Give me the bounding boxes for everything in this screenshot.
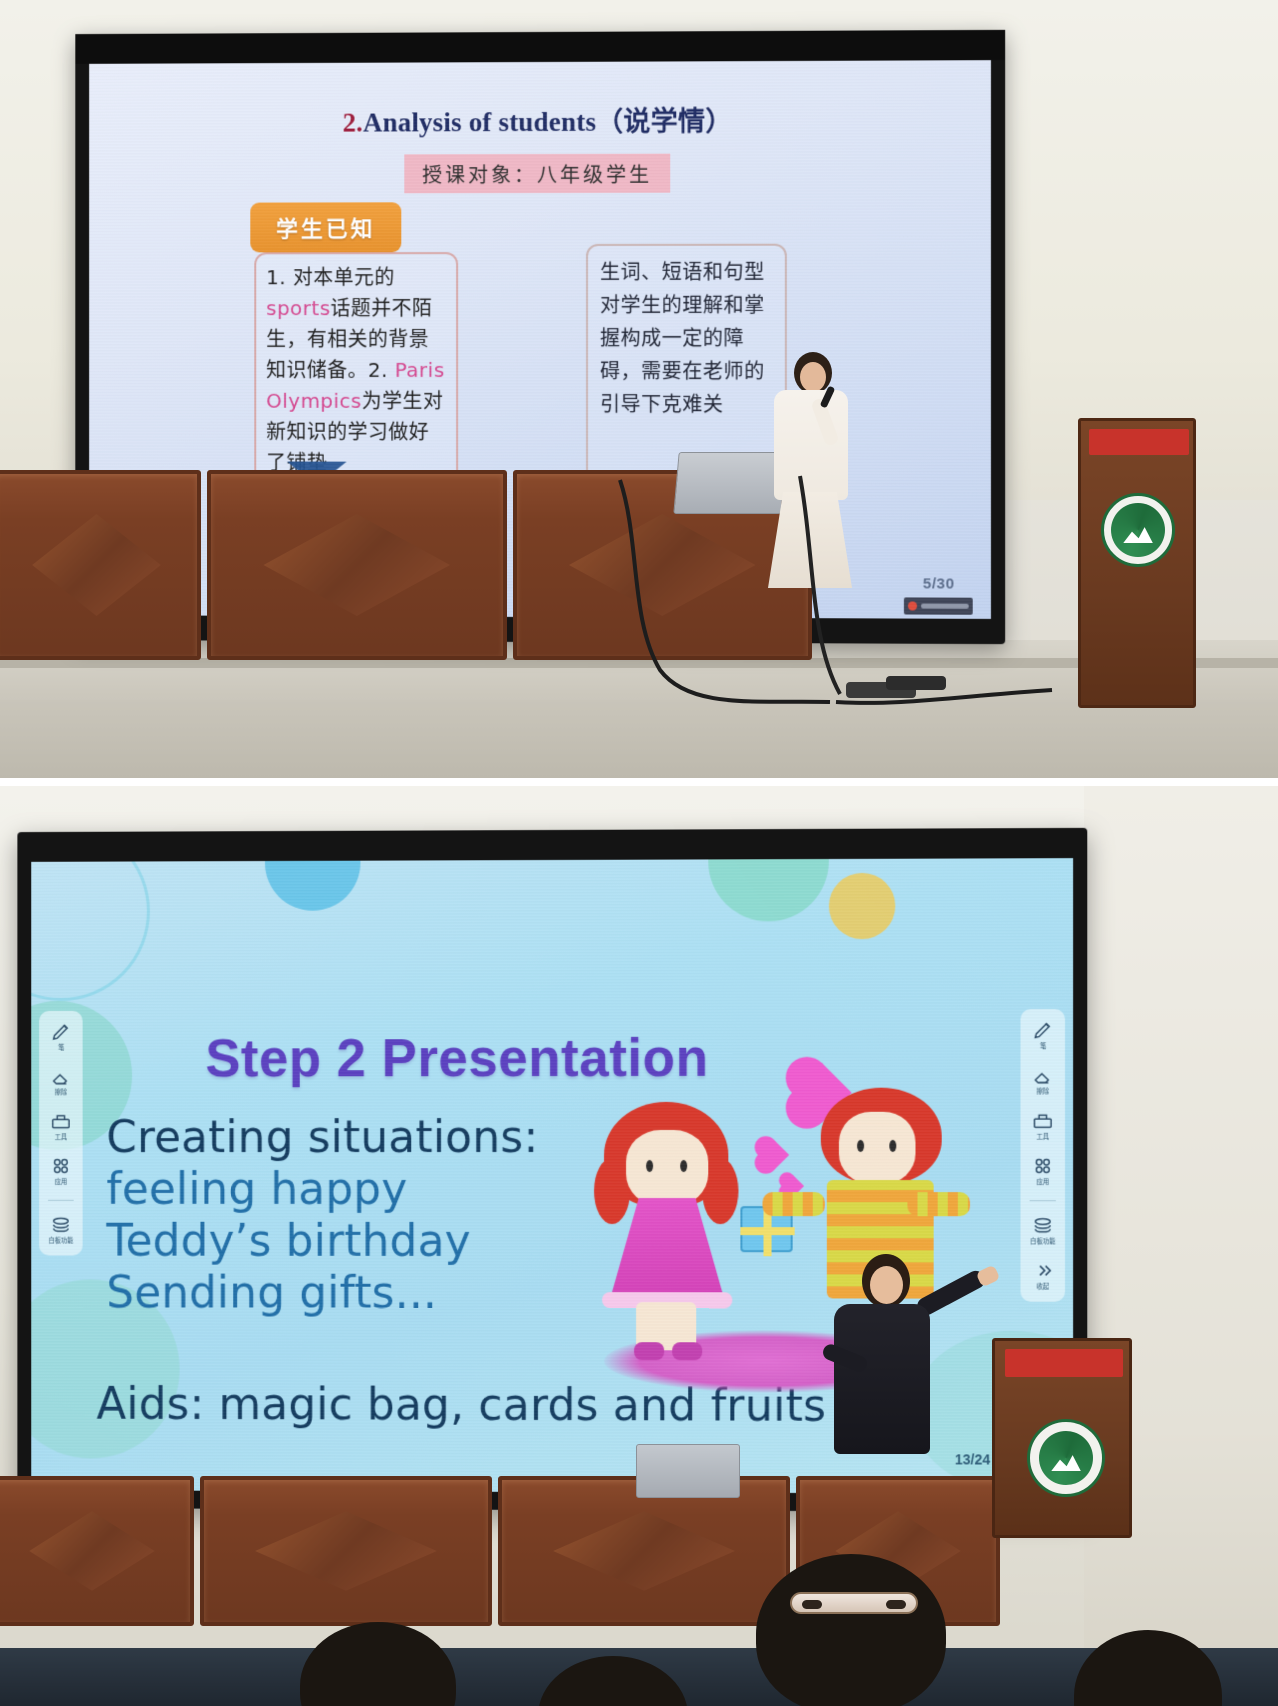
lectern-top xyxy=(1078,418,1196,708)
whiteboard-toolbar-left[interactable]: 笔 擦除 工具 应用 xyxy=(39,1011,82,1256)
boy-arm xyxy=(762,1192,824,1216)
tool-toolbox[interactable]: 工具 xyxy=(1021,1110,1066,1142)
tool-apps[interactable]: 应用 xyxy=(39,1155,82,1187)
record-icon xyxy=(908,601,917,610)
slide2-line-4: Sending gifts... xyxy=(106,1267,437,1318)
tool-collapse-label: 收起 xyxy=(1036,1284,1049,1291)
whiteboard-toolbar-right[interactable]: 笔 擦除 工具 应用 xyxy=(1021,1009,1066,1302)
audience-head xyxy=(1074,1630,1222,1706)
apps-icon xyxy=(1032,1155,1054,1177)
girl-face xyxy=(626,1130,708,1206)
bottom-photo: Step 2 Presentation Creating situations:… xyxy=(0,786,1278,1706)
audience-head xyxy=(756,1554,946,1706)
tool-layers-label: 白板功能 xyxy=(1030,1239,1055,1246)
screen-bezel xyxy=(75,30,1005,64)
audience-head xyxy=(300,1622,456,1706)
presenter-face xyxy=(870,1266,903,1304)
tool-eraser[interactable]: 擦除 xyxy=(39,1066,82,1098)
tool-apps-label: 应用 xyxy=(55,1179,67,1186)
eye-icon xyxy=(680,1160,687,1172)
left-item1-highlight: sports xyxy=(266,296,330,320)
apps-icon xyxy=(50,1155,72,1177)
decor-circle xyxy=(829,873,895,939)
tool-eraser[interactable]: 擦除 xyxy=(1021,1064,1066,1096)
presenter-face xyxy=(800,362,826,392)
girl-pigtail xyxy=(594,1158,630,1224)
slide2-line-2: feeling happy xyxy=(106,1164,407,1215)
left-item1-pre: 1. 对本单元的 xyxy=(266,265,395,289)
slide2-page-indicator: 13/24 xyxy=(955,1451,990,1467)
tool-layers[interactable]: 白板功能 xyxy=(1021,1214,1066,1246)
tool-apps[interactable]: 应用 xyxy=(1021,1155,1066,1187)
tool-collapse[interactable]: 收起 xyxy=(1021,1259,1066,1291)
slide2-line-1: Creating situations: xyxy=(106,1112,538,1163)
girl-shoe xyxy=(634,1342,664,1360)
toolbar-divider xyxy=(1030,1200,1056,1201)
left-text-box: 1. 对本单元的sports话题并不陌生，有相关的背景知识储备。2. Paris… xyxy=(254,252,458,500)
tool-pen-label: 笔 xyxy=(58,1045,64,1052)
decor-circle xyxy=(708,858,829,921)
eye-icon xyxy=(889,1140,896,1152)
screen-bezel xyxy=(17,828,1087,832)
hair-clip xyxy=(790,1592,918,1614)
toolbox-icon xyxy=(1032,1110,1054,1132)
subject-chip: 授课对象：八年级学生 xyxy=(404,154,670,194)
presenter-top xyxy=(766,352,852,588)
tool-pen[interactable]: 笔 xyxy=(39,1021,82,1053)
known-badge: 学生已知 xyxy=(250,202,401,252)
slide1-mini-toolbar[interactable] xyxy=(904,597,973,614)
lectern-red-sign xyxy=(1005,1349,1123,1377)
slide1-title: 2.Analysis of students（说学情） xyxy=(89,98,991,140)
toolbar-divider xyxy=(48,1200,74,1201)
tool-toolbox-label: 工具 xyxy=(55,1135,67,1142)
tool-pen-label: 笔 xyxy=(1040,1044,1046,1051)
tool-pen[interactable]: 笔 xyxy=(1021,1019,1066,1051)
top-photo: 2.Analysis of students（说学情） 授课对象：八年级学生 学… xyxy=(0,0,1278,778)
layers-icon xyxy=(1032,1214,1054,1236)
tool-apps-label: 应用 xyxy=(1036,1179,1049,1186)
decor-circle xyxy=(265,858,360,911)
slide2-line-3: Teddy’s birthday xyxy=(106,1216,471,1267)
school-emblem-icon xyxy=(1101,493,1175,567)
boy-face xyxy=(839,1112,916,1184)
desk-panel xyxy=(0,470,201,660)
left-item2-pre: 2. xyxy=(368,358,395,382)
cartoon-girl xyxy=(592,1102,762,1365)
emblem-inner xyxy=(1039,1431,1093,1485)
eye-icon xyxy=(857,1140,864,1152)
presenter-skirt xyxy=(768,492,852,588)
slide1-title-number: 2. xyxy=(343,108,364,138)
presenter-bottom xyxy=(828,1254,958,1484)
pen-icon xyxy=(1032,1019,1054,1041)
school-emblem-icon xyxy=(1027,1419,1105,1497)
progress-bar xyxy=(921,604,969,609)
pen-icon xyxy=(50,1021,72,1043)
slide1-title-english: Analysis of students xyxy=(363,107,596,138)
slide1-page-indicator: 5/30 xyxy=(923,575,955,592)
collapse-icon xyxy=(1032,1259,1054,1281)
eraser-icon xyxy=(1032,1064,1054,1086)
floor-strip xyxy=(0,700,1278,778)
toolbox-icon xyxy=(50,1110,72,1132)
eraser-icon xyxy=(50,1066,72,1088)
tool-layers-label: 白板功能 xyxy=(48,1238,73,1245)
tool-eraser-label: 擦除 xyxy=(1036,1089,1049,1096)
presenter-body xyxy=(834,1304,930,1454)
desk-panel xyxy=(207,470,506,660)
tool-eraser-label: 擦除 xyxy=(55,1090,67,1097)
layers-icon xyxy=(50,1214,72,1236)
lectern-red-sign xyxy=(1089,429,1189,455)
tool-toolbox-label: 工具 xyxy=(1036,1134,1049,1141)
audience-foreground xyxy=(0,1536,1278,1706)
decor-ring xyxy=(31,858,150,1001)
panel-divider xyxy=(0,778,1278,786)
emblem-inner xyxy=(1111,503,1165,557)
tool-layers[interactable]: 白板功能 xyxy=(39,1214,82,1246)
slide1-title-chinese: （说学情） xyxy=(596,106,732,136)
heart-icon xyxy=(758,1139,789,1170)
eye-icon xyxy=(646,1160,653,1172)
tool-toolbox[interactable]: 工具 xyxy=(39,1110,82,1142)
laptop-bottom xyxy=(636,1444,740,1498)
girl-shoe xyxy=(672,1342,702,1360)
photo-composite: 2.Analysis of students（说学情） 授课对象：八年级学生 学… xyxy=(0,0,1278,1706)
boy-arm xyxy=(907,1192,970,1216)
lectern-bottom xyxy=(992,1338,1132,1538)
